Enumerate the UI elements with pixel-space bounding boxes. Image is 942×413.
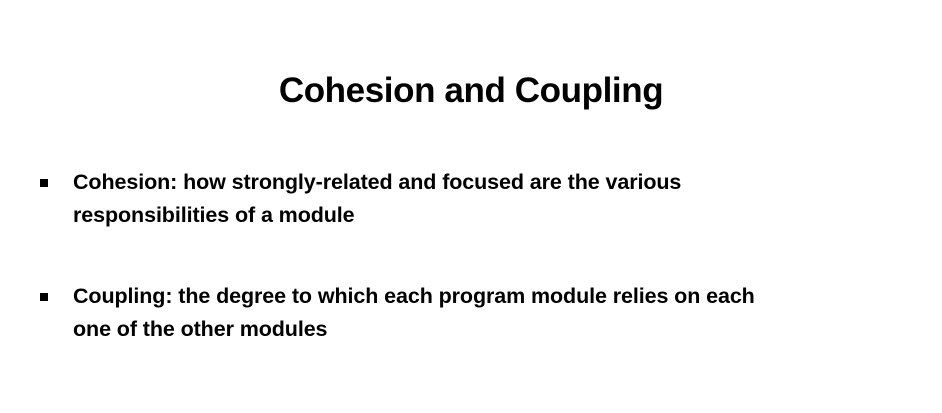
page-title: Cohesion and Coupling — [0, 69, 942, 113]
list-item: Cohesion: how strongly-related and focus… — [0, 166, 942, 232]
bullet-list: Cohesion: how strongly-related and focus… — [0, 166, 942, 346]
square-bullet-icon — [40, 293, 48, 301]
bullet-line: Cohesion: how strongly-related and focus… — [73, 166, 912, 199]
list-item: Coupling: the degree to which each progr… — [0, 280, 942, 346]
bullet-line: Coupling: the degree to which each progr… — [73, 280, 912, 313]
bullet-line: one of the other modules — [73, 313, 912, 346]
bullet-text: Cohesion: how strongly-related and focus… — [73, 166, 912, 232]
presentation-slide: Cohesion and Coupling Cohesion: how stro… — [0, 0, 942, 413]
bullet-line: responsibilities of a module — [73, 199, 912, 232]
square-bullet-icon — [40, 179, 48, 187]
bullet-text: Coupling: the degree to which each progr… — [73, 280, 912, 346]
